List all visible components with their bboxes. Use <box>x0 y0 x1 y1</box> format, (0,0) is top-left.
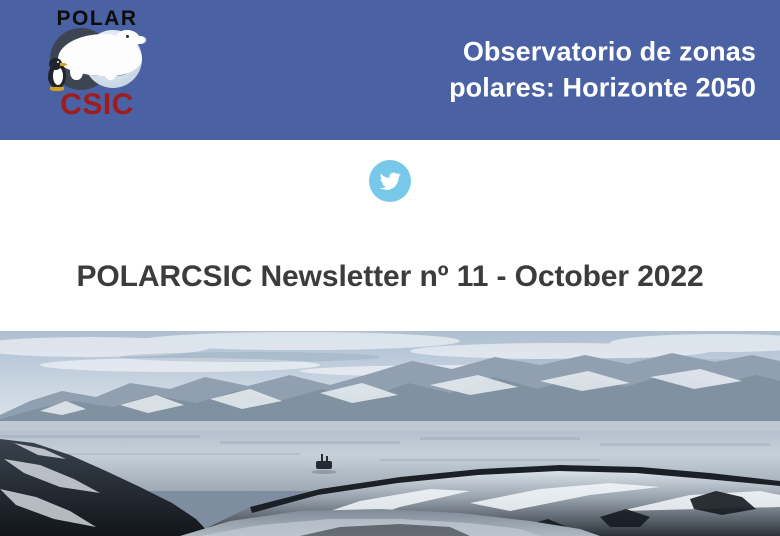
logo-word-polar: POLAR <box>36 8 158 29</box>
logo-word-csic: CSIC <box>36 90 158 120</box>
polarcsic-logo[interactable]: POLAR <box>36 4 158 122</box>
header-title-line-2: polares: Horizonte 2050 <box>336 70 756 106</box>
polar-bear-snout <box>134 36 146 44</box>
header-title: Observatorio de zonas polares: Horizonte… <box>336 34 756 105</box>
header-title-line-1: Observatorio de zonas <box>336 34 756 70</box>
newsletter-page: POLAR <box>0 0 780 536</box>
twitter-icon[interactable] <box>369 160 411 202</box>
page-title: POLARCSIC Newsletter nº 11 - October 202… <box>76 260 703 294</box>
newsletter-title-section: POLARCSIC Newsletter nº 11 - October 202… <box>0 222 780 331</box>
polar-bear-eye <box>126 35 129 38</box>
polar-bear-leg-rear <box>104 62 117 80</box>
page-header: POLAR <box>0 0 780 140</box>
social-links-row <box>0 140 780 222</box>
polar-landscape-photo <box>0 331 780 536</box>
polar-bear-leg-front <box>70 62 83 80</box>
